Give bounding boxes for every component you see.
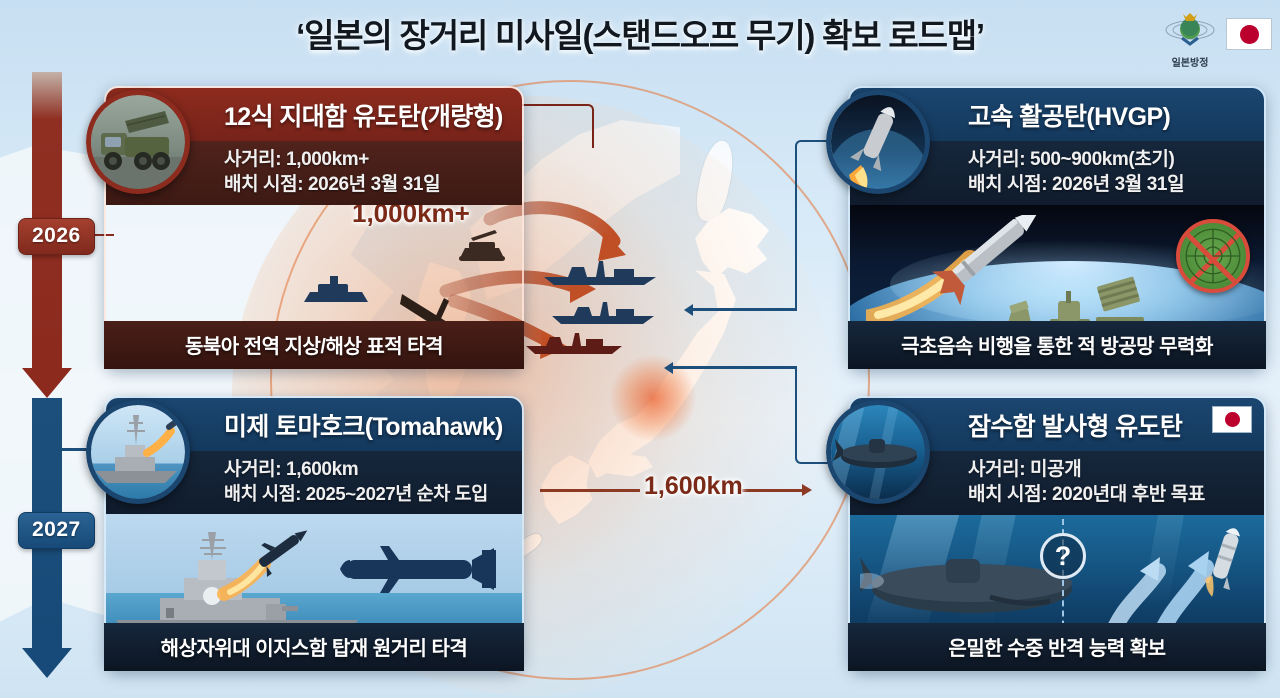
japan-flag-icon — [1212, 406, 1252, 433]
mod-logo-label: 일본방정 — [1158, 54, 1222, 69]
timeline-year-2027[interactable]: 2027 — [18, 512, 95, 549]
japan-flag-icon — [1226, 18, 1272, 50]
connector-submarine-stem — [673, 366, 797, 369]
card-thumbnail — [826, 400, 930, 504]
card-title: 잠수함 발사형 유도탄 — [968, 407, 1182, 443]
card-title: 고속 활공탄(HVGP) — [968, 97, 1170, 133]
card-caption: 동북아 전역 지상/해상 표적 타격 — [104, 321, 524, 369]
radar-disabled-icon — [1176, 219, 1250, 293]
warship-silhouette-icon-3 — [522, 326, 626, 356]
distance-label-1600: 1,600km — [644, 472, 743, 501]
connector-hvgp-stem — [693, 308, 797, 311]
card-caption: 은밀한 수중 반격 능력 확보 — [848, 623, 1266, 671]
missile-icon — [1202, 523, 1248, 597]
warship-silhouette-icon — [540, 255, 660, 287]
infographic-canvas: ‘일본의 장거리 미사일(스탠드오프 무기) 확보 로드맵’ 일본방정 2026… — [0, 0, 1280, 698]
card-thumbnail — [86, 90, 190, 194]
card-sub-launched[interactable]: 잠수함 발사형 유도탄 사거리: 미공개 배치 시점: 2020년대 후반 목표 — [848, 396, 1266, 671]
japan-mod-logo-icon — [1164, 8, 1216, 48]
card-type12-ssm[interactable]: 12식 지대함 유도탄(개량형) 사거리: 1,000km+ 배치 시점: 20… — [104, 86, 524, 369]
distance-arrowhead-1600 — [802, 484, 812, 496]
card-title: 12식 지대함 유도탄(개량형) — [224, 97, 503, 133]
timeline-year-2026[interactable]: 2026 — [18, 218, 95, 255]
page-title: ‘일본의 장거리 미사일(스탠드오프 무기) 확보 로드맵’ — [0, 9, 1280, 57]
warship-silhouette-icon-2 — [548, 296, 658, 326]
mod-logo: 일본방정 — [1158, 8, 1222, 69]
tomahawk-missile-icon — [332, 540, 512, 596]
distance-line-1600 — [540, 489, 640, 492]
card-title: 미제 토마호크(Tomahawk) — [224, 407, 503, 443]
card-tomahawk[interactable]: 미제 토마호크(Tomahawk) 사거리: 1,600km 배치 시점: 20… — [104, 396, 524, 671]
card-caption: 극초음속 비행을 통한 적 방공망 무력화 — [848, 321, 1266, 369]
distance-line-1600-right — [742, 489, 804, 492]
question-badge-icon: ? — [1040, 533, 1086, 579]
card-hvgp[interactable]: 고속 활공탄(HVGP) 사거리: 500~900km(초기) 배치 시점: 2… — [848, 86, 1266, 369]
card-caption: 해상자위대 이지스함 탑재 원거리 타격 — [104, 623, 524, 671]
card-thumbnail — [826, 90, 930, 194]
card-thumbnail — [86, 400, 190, 504]
